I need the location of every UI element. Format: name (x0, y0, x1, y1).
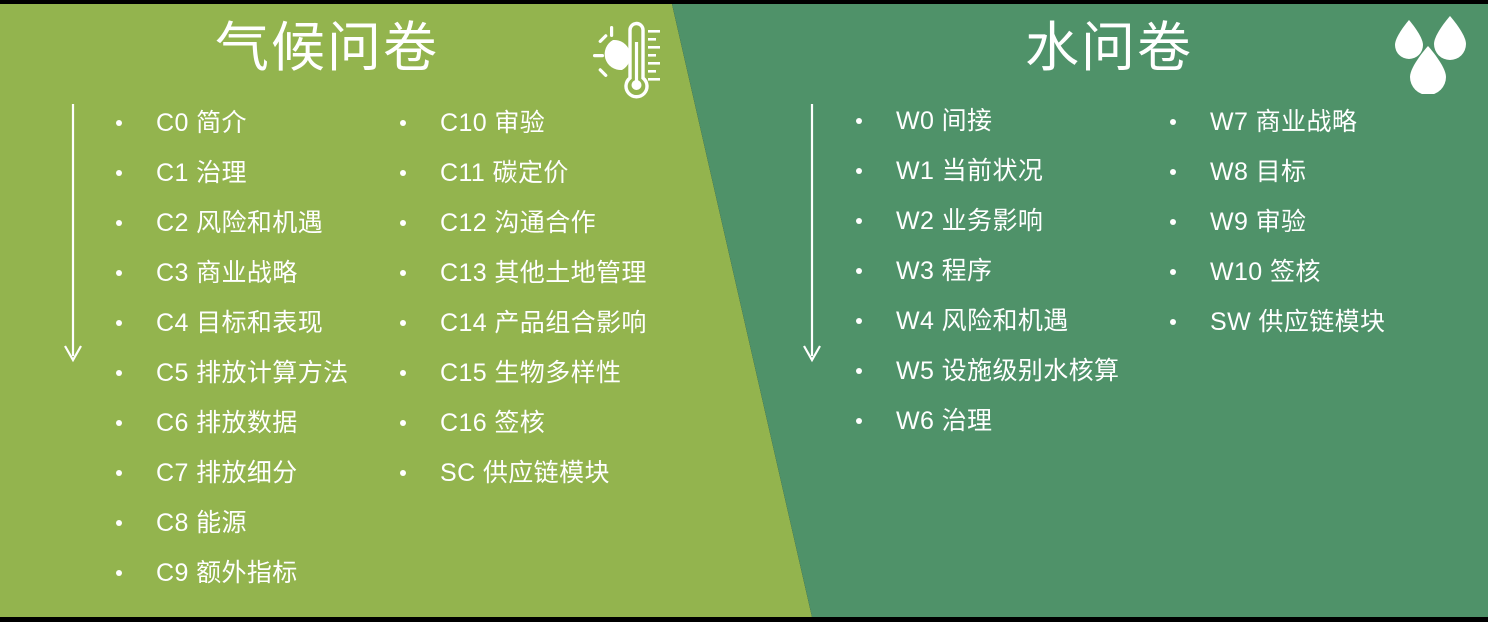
list-item[interactable]: C8 能源 (116, 498, 349, 548)
bullet-dot-icon (1170, 269, 1176, 275)
list-item[interactable]: C13 其他土地管理 (400, 248, 647, 298)
list-item[interactable]: C4 目标和表现 (116, 298, 349, 348)
climate-module-label: C5 排放计算方法 (156, 361, 349, 386)
climate-module-label: C4 目标和表现 (156, 311, 323, 336)
list-item[interactable]: C12 沟通合作 (400, 198, 647, 248)
climate-panel-title: 气候问卷 (215, 21, 439, 75)
water-module-label: SW 供应链模块 (1210, 310, 1385, 335)
bullet-dot-icon (400, 470, 406, 476)
bullet-dot-icon (116, 320, 122, 326)
bullet-dot-icon (116, 220, 122, 226)
bullet-dot-icon (1170, 169, 1176, 175)
list-item[interactable]: C14 产品组合影响 (400, 298, 647, 348)
list-item[interactable]: C11 碳定价 (400, 148, 647, 198)
list-item[interactable]: W4 风险和机遇 (856, 296, 1119, 346)
bullet-dot-icon (116, 470, 122, 476)
bottom-border-bar (0, 617, 1488, 622)
bullet-dot-icon (400, 270, 406, 276)
bullet-dot-icon (856, 218, 862, 224)
list-item[interactable]: C0 简介 (116, 98, 349, 148)
bullet-dot-icon (856, 268, 862, 274)
climate-flow-arrow-icon (62, 104, 84, 368)
top-border-bar (0, 0, 1488, 4)
list-item[interactable]: SC 供应链模块 (400, 448, 647, 498)
bullet-dot-icon (856, 318, 862, 324)
list-item[interactable]: W7 商业战略 (1170, 97, 1385, 147)
climate-module-label: C1 治理 (156, 161, 247, 186)
water-module-label: W0 间接 (896, 109, 992, 134)
bullet-dot-icon (856, 168, 862, 174)
list-item[interactable]: C10 审验 (400, 98, 647, 148)
list-item[interactable]: SW 供应链模块 (1170, 297, 1385, 347)
water-module-label: W3 程序 (896, 259, 992, 284)
water-module-label: W6 治理 (896, 409, 992, 434)
bullet-dot-icon (1170, 119, 1176, 125)
water-module-list-column-1: W0 间接W1 当前状况W2 业务影响W3 程序W4 风险和机遇W5 设施级别水… (856, 96, 1119, 446)
bullet-dot-icon (116, 120, 122, 126)
climate-module-label: C15 生物多样性 (440, 361, 621, 386)
bullet-dot-icon (1170, 219, 1176, 225)
bullet-dot-icon (400, 320, 406, 326)
climate-module-label: C12 沟通合作 (440, 211, 596, 236)
bullet-dot-icon (856, 118, 862, 124)
list-item[interactable]: C9 额外指标 (116, 548, 349, 598)
water-module-label: W2 业务影响 (896, 209, 1043, 234)
bullet-dot-icon (116, 170, 122, 176)
bullet-dot-icon (116, 570, 122, 576)
water-droplets-icon (1388, 14, 1474, 94)
climate-module-label: C6 排放数据 (156, 411, 298, 436)
bullet-dot-icon (400, 170, 406, 176)
bullet-dot-icon (400, 370, 406, 376)
list-item[interactable]: W2 业务影响 (856, 196, 1119, 246)
list-item[interactable]: W10 签核 (1170, 247, 1385, 297)
bullet-dot-icon (116, 520, 122, 526)
water-module-label: W10 签核 (1210, 260, 1321, 285)
water-module-list-column-2: W7 商业战略W8 目标W9 审验W10 签核SW 供应链模块 (1170, 97, 1385, 347)
list-item[interactable]: C3 商业战略 (116, 248, 349, 298)
water-flow-arrow-icon (801, 104, 823, 368)
water-panel-title: 水问卷 (1025, 21, 1193, 75)
bullet-dot-icon (400, 420, 406, 426)
bullet-dot-icon (116, 270, 122, 276)
list-item[interactable]: C15 生物多样性 (400, 348, 647, 398)
bullet-dot-icon (116, 370, 122, 376)
water-module-label: W5 设施级别水核算 (896, 359, 1119, 384)
climate-module-label: C7 排放细分 (156, 461, 298, 486)
bullet-dot-icon (116, 420, 122, 426)
climate-module-label: SC 供应链模块 (440, 461, 610, 486)
bullet-dot-icon (856, 368, 862, 374)
climate-module-label: C11 碳定价 (440, 161, 569, 186)
climate-module-label: C9 额外指标 (156, 561, 298, 586)
thermometer-sun-icon (575, 12, 675, 108)
water-module-label: W8 目标 (1210, 160, 1306, 185)
climate-module-label: C10 审验 (440, 111, 545, 136)
list-item[interactable]: W0 间接 (856, 96, 1119, 146)
climate-module-label: C16 签核 (440, 411, 545, 436)
list-item[interactable]: W3 程序 (856, 246, 1119, 296)
list-item[interactable]: C16 签核 (400, 398, 647, 448)
climate-module-label: C8 能源 (156, 511, 247, 536)
climate-module-label: C0 简介 (156, 111, 247, 136)
list-item[interactable]: W8 目标 (1170, 147, 1385, 197)
climate-module-list-column-1: C0 简介C1 治理C2 风险和机遇C3 商业战略C4 目标和表现C5 排放计算… (116, 98, 349, 598)
bullet-dot-icon (400, 120, 406, 126)
climate-module-label: C13 其他土地管理 (440, 261, 647, 286)
water-module-label: W9 审验 (1210, 210, 1306, 235)
water-module-label: W4 风险和机遇 (896, 309, 1069, 334)
bullet-dot-icon (400, 220, 406, 226)
climate-module-label: C14 产品组合影响 (440, 311, 647, 336)
bullet-dot-icon (856, 418, 862, 424)
bullet-dot-icon (1170, 319, 1176, 325)
list-item[interactable]: W1 当前状况 (856, 146, 1119, 196)
list-item[interactable]: W9 审验 (1170, 197, 1385, 247)
list-item[interactable]: C2 风险和机遇 (116, 198, 349, 248)
climate-module-label: C2 风险和机遇 (156, 211, 323, 236)
slide-canvas: 气候问卷 水问卷 (0, 0, 1488, 622)
climate-module-label: C3 商业战略 (156, 261, 298, 286)
list-item[interactable]: C5 排放计算方法 (116, 348, 349, 398)
list-item[interactable]: C7 排放细分 (116, 448, 349, 498)
list-item[interactable]: W5 设施级别水核算 (856, 346, 1119, 396)
climate-module-list-column-2: C10 审验C11 碳定价C12 沟通合作C13 其他土地管理C14 产品组合影… (400, 98, 647, 498)
list-item[interactable]: W6 治理 (856, 396, 1119, 446)
water-module-label: W7 商业战略 (1210, 110, 1357, 135)
list-item[interactable]: C6 排放数据 (116, 398, 349, 448)
water-module-label: W1 当前状况 (896, 159, 1043, 184)
list-item[interactable]: C1 治理 (116, 148, 349, 198)
